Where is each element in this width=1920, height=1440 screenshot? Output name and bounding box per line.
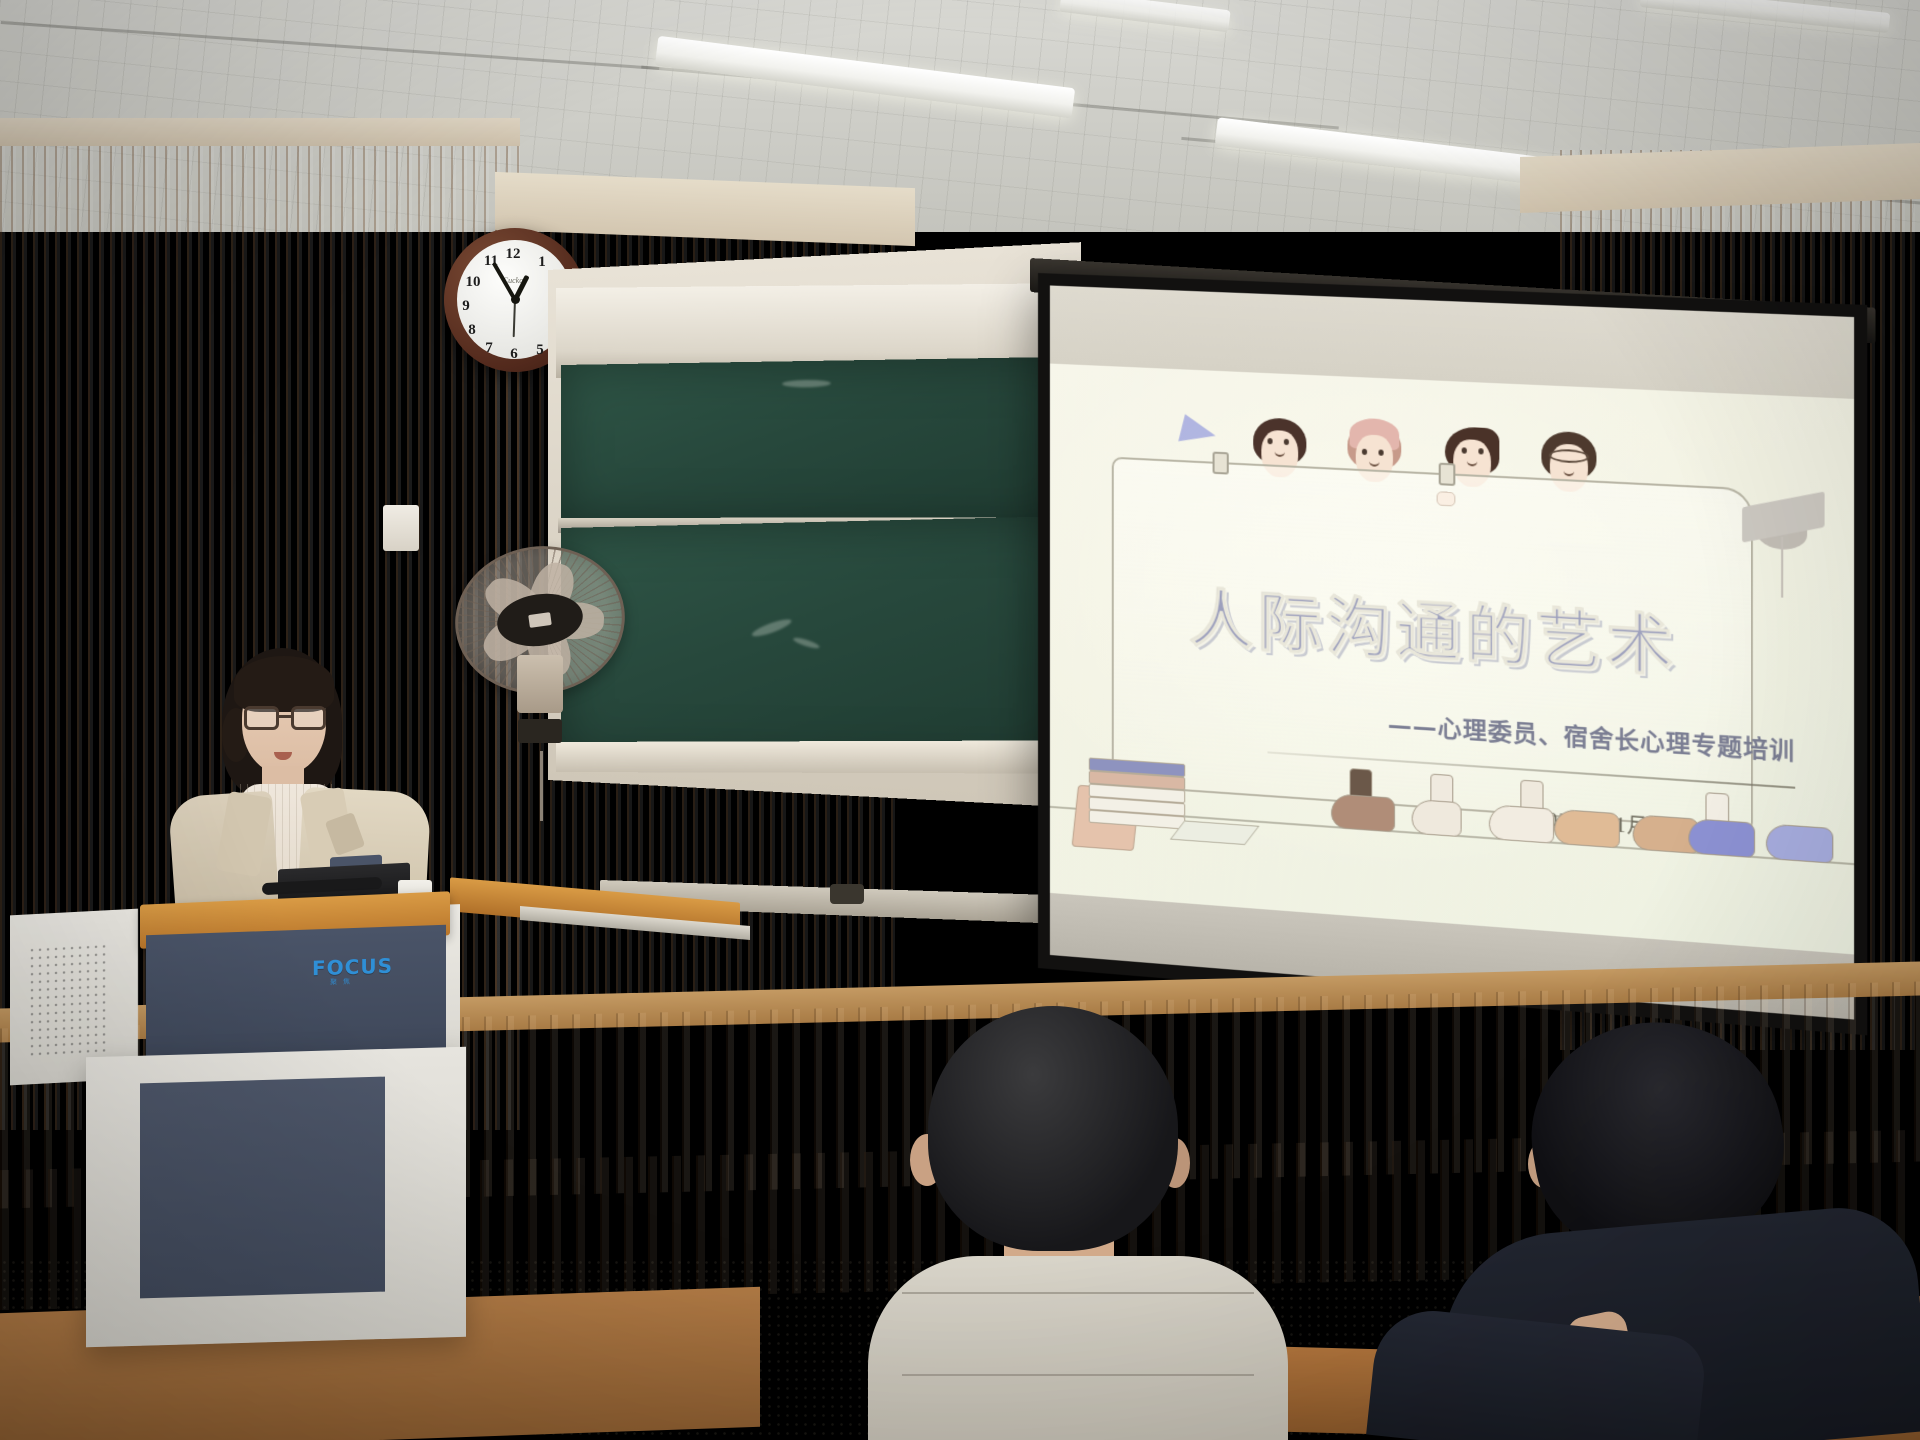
classroom-photo-scene: Cuckoo 12 1 2 3 4 5 6 7 8 9 10 11	[0, 0, 1920, 1440]
wall-mounted-fan[interactable]	[455, 540, 625, 700]
shirt-seam	[902, 1292, 1255, 1294]
clock-number-1: 1	[533, 254, 551, 271]
green-chalkboard-lower	[561, 516, 1082, 771]
books-illustration	[1081, 757, 1212, 857]
clock-number-9: 9	[457, 298, 475, 315]
screen-surface: 人际沟通的艺术 ——心理委员、宿舍长心理专题培训 2024年11月14日	[1050, 285, 1854, 1019]
chalk-smudge	[792, 636, 820, 650]
clock-number-5: 5	[531, 342, 549, 359]
clock-number-12: 12	[504, 246, 522, 263]
presenter-hair-top	[234, 656, 334, 712]
projection-screen: 人际沟通的艺术 ——心理委员、宿舍长心理专题培训 2024年11月14日	[1038, 273, 1867, 1035]
podium-base-panel	[140, 1077, 385, 1299]
banner-clip	[1439, 463, 1456, 486]
clock-number-6: 6	[505, 346, 523, 363]
shoe	[1488, 805, 1553, 845]
banner-clip	[1212, 451, 1228, 474]
shoe	[1765, 824, 1832, 864]
glasses-lens-left	[244, 706, 279, 730]
podium-brand-sublabel: 聚 焦	[330, 977, 352, 988]
audience-member-center	[868, 1006, 1288, 1440]
clock-number-7: 7	[480, 340, 498, 357]
wall-trim	[0, 118, 520, 146]
shoe	[1331, 794, 1395, 833]
rail-knob	[830, 884, 864, 904]
chalk-smudge	[750, 616, 793, 639]
podium-brand-logo: FOCUS	[312, 954, 393, 981]
shoe	[1411, 799, 1461, 837]
graduation-cap-icon	[1742, 493, 1824, 558]
shoe	[1688, 818, 1755, 858]
audience-head	[928, 1006, 1178, 1251]
chalk-tray	[556, 740, 1089, 773]
presentation-slide: 人际沟通的艺术 ——心理委员、宿舍长心理专题培训 2024年11月14日	[1050, 364, 1854, 955]
chalk-smudge	[782, 380, 831, 388]
clock-number-8: 8	[463, 322, 481, 339]
fan-switch[interactable]	[518, 719, 562, 743]
paper-sheet	[1170, 821, 1260, 846]
clock-center-pin	[511, 295, 520, 304]
clock-second-hand	[513, 299, 516, 337]
green-chalkboard-upper	[561, 357, 1082, 532]
audience-shirt	[868, 1256, 1288, 1440]
shirt-seam	[902, 1374, 1255, 1376]
glasses-bridge	[279, 715, 291, 718]
shoe	[1554, 809, 1620, 849]
fan-cord	[540, 751, 543, 821]
clock-number-10: 10	[464, 274, 482, 291]
cap-tassel	[1781, 537, 1783, 598]
power-outlet[interactable]	[383, 505, 419, 551]
glasses-lens-right	[291, 706, 326, 730]
speaker-grille	[28, 942, 106, 1056]
presenter-glasses-icon	[244, 706, 326, 730]
audience-member-right	[1382, 1022, 1920, 1440]
fan-motor	[517, 655, 563, 713]
